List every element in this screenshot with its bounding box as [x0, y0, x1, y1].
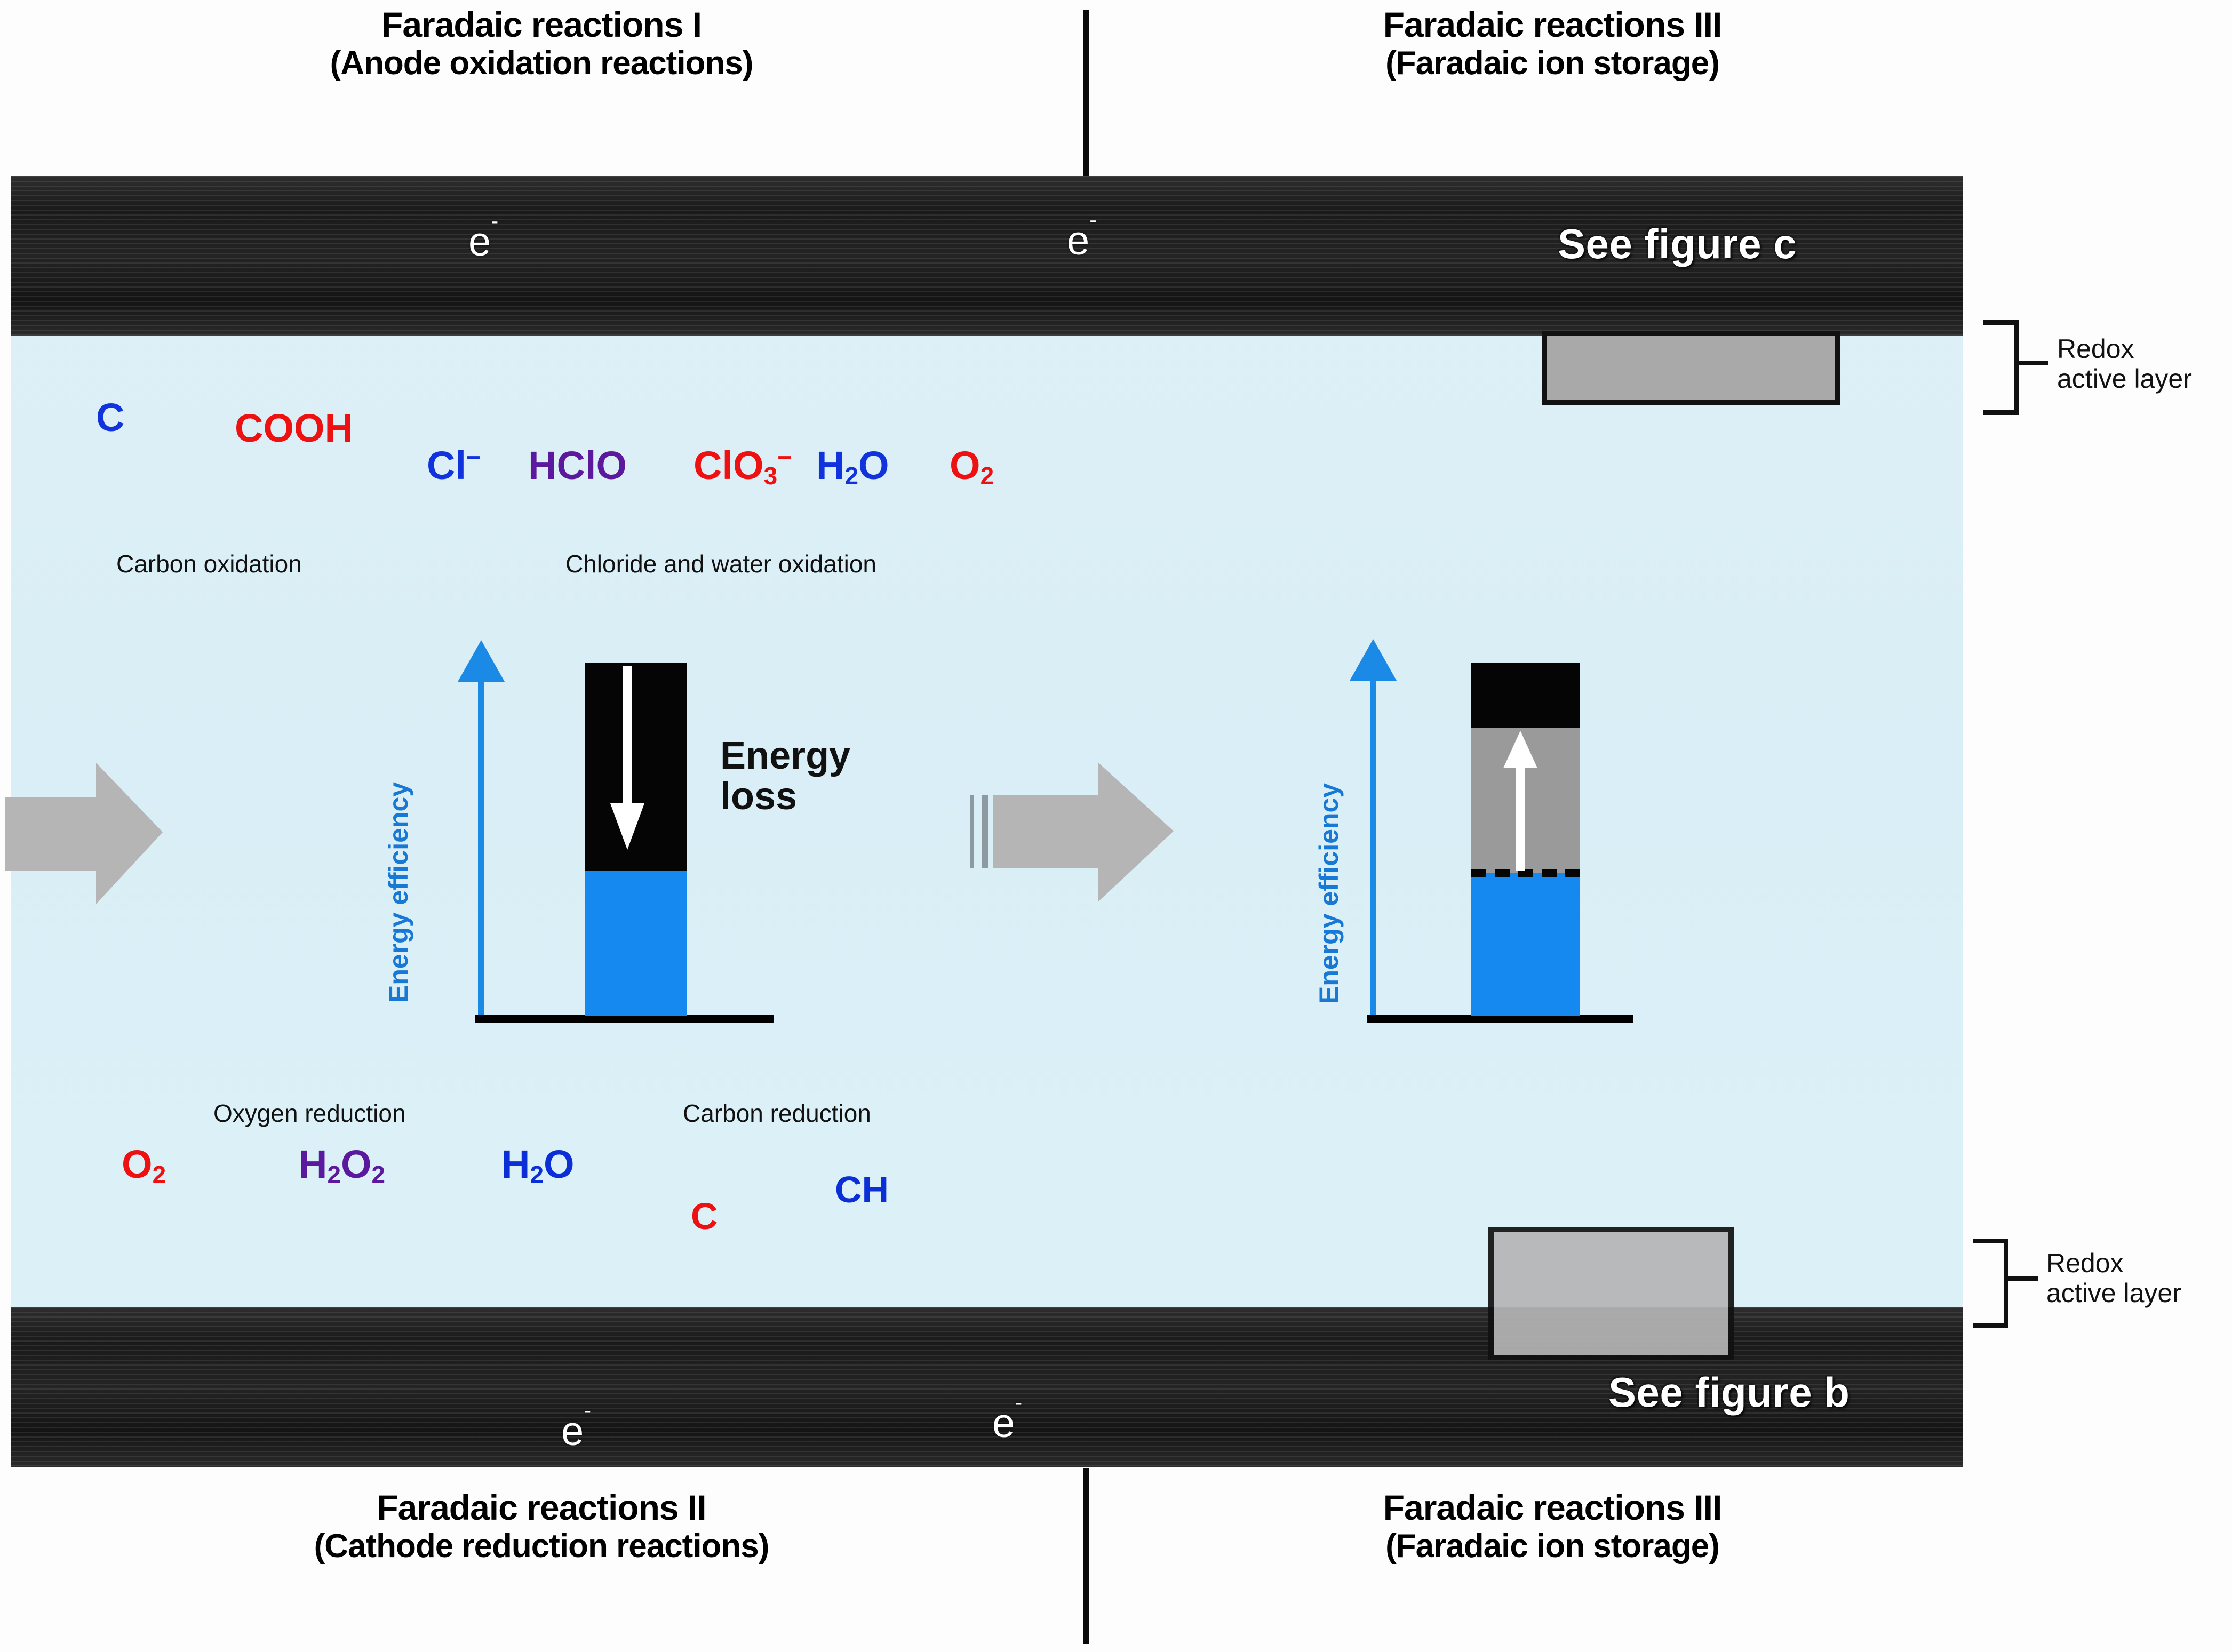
right-chart-y-axis-arrowhead [1350, 639, 1397, 681]
divider-bottom [1083, 1468, 1089, 1644]
right-chart-y-axis-label: Energy efficiency [1313, 684, 1344, 1004]
species-chloride: Cl− [427, 443, 481, 488]
redox-bracket-tick-top [2014, 361, 2048, 365]
redox-bracket-tick-bottom [2004, 1276, 2038, 1281]
left-chart-y-axis [478, 679, 484, 1019]
caption-carbon-oxidation: Carbon oxidation [116, 549, 302, 578]
species-hydrogen-peroxide: H2O2 [299, 1142, 385, 1187]
species-carboxyl-product: COOH [235, 405, 353, 451]
header-top-right-line1: Faradaic reactions III [1099, 5, 2006, 45]
species-carbon-reduction-product: CH [835, 1168, 889, 1211]
redox-active-layer-label-top: Redox active layer [2057, 334, 2228, 394]
left-chart-annotation: Energy loss [720, 736, 923, 817]
species-water-cathode: H2O [501, 1142, 575, 1187]
species-carbon-reduction-reactant: C [691, 1195, 718, 1238]
cathode-electron-label: e- [561, 1408, 591, 1455]
left-chart-y-axis-label: Energy efficiency [383, 683, 414, 1003]
header-bottom-right-line1: Faradaic reactions III [1099, 1488, 2006, 1528]
species-chlorate: ClO3− [693, 443, 792, 488]
anode-electron-label: e- [468, 219, 498, 265]
header-bottom-right: Faradaic reactions III (Faradaic ion sto… [1099, 1488, 2006, 1565]
species-carbon-reactant: C [96, 395, 124, 440]
header-top-right: Faradaic reactions III (Faradaic ion sto… [1099, 5, 2006, 82]
ion-storage-top-electron-label: e- [1067, 218, 1097, 264]
zoom-inset-top[interactable] [1542, 331, 1840, 405]
see-figure-c-callout[interactable]: See figure c [1558, 220, 1797, 268]
divider-top [1083, 10, 1089, 176]
header-top-left-line1: Faradaic reactions I [0, 5, 1083, 45]
zoom-inset-bottom[interactable] [1488, 1227, 1734, 1360]
left-chart-loss-arrow-icon [606, 666, 649, 852]
header-top-left: Faradaic reactions I (Anode oxidation re… [0, 5, 1083, 82]
left-chart-baseline [475, 1015, 774, 1023]
left-chart-y-axis-arrowhead [458, 640, 505, 682]
species-hypochlorous-acid: HClO [528, 443, 627, 488]
see-figure-b-callout[interactable]: See figure b [1608, 1368, 1850, 1417]
left-chart-energy-efficiency-segment [585, 871, 687, 1016]
right-chart-y-axis [1370, 677, 1376, 1018]
header-top-left-line2: (Anode oxidation reactions) [0, 45, 1083, 82]
species-water-anode: H2O [816, 443, 889, 488]
header-bottom-left-line2: (Cathode reduction reactions) [0, 1528, 1083, 1565]
figure-root: Faradaic reactions I (Anode oxidation re… [0, 0, 2232, 1652]
header-bottom-left-line1: Faradaic reactions II [0, 1488, 1083, 1528]
redox-bracket-bottom [1973, 1239, 2008, 1328]
caption-carbon-reduction: Carbon reduction [683, 1099, 871, 1128]
right-chart-baseline [1367, 1015, 1633, 1023]
right-chart-energy-loss-segment [1471, 663, 1580, 728]
right-energy-chart: Energy efficiency [1302, 640, 1782, 1046]
species-oxygen-cathode: O2 [122, 1142, 166, 1187]
caption-chloride-water-oxidation: Chloride and water oxidation [565, 549, 876, 578]
header-top-right-line2: (Faradaic ion storage) [1099, 45, 2006, 82]
caption-oxygen-reduction: Oxygen reduction [213, 1099, 406, 1128]
right-chart-reference-dashed-line [1471, 869, 1580, 877]
left-energy-chart: Energy efficiency Energy loss [373, 640, 854, 1046]
redox-active-layer-label-bottom: Redox active layer [2046, 1248, 2228, 1308]
flow-arrow-left [5, 747, 165, 923]
header-bottom-right-line2: (Faradaic ion storage) [1099, 1528, 2006, 1565]
right-chart-energy-efficiency-segment [1471, 873, 1580, 1016]
redox-bracket-top [1983, 320, 2019, 415]
header-bottom-left: Faradaic reactions II (Cathode reduction… [0, 1488, 1083, 1565]
species-oxygen-anode: O2 [950, 443, 994, 488]
ion-storage-bottom-electron-label: e- [992, 1400, 1022, 1447]
right-chart-recovery-arrow-icon [1499, 731, 1542, 871]
flow-arrow-middle [960, 744, 1206, 920]
